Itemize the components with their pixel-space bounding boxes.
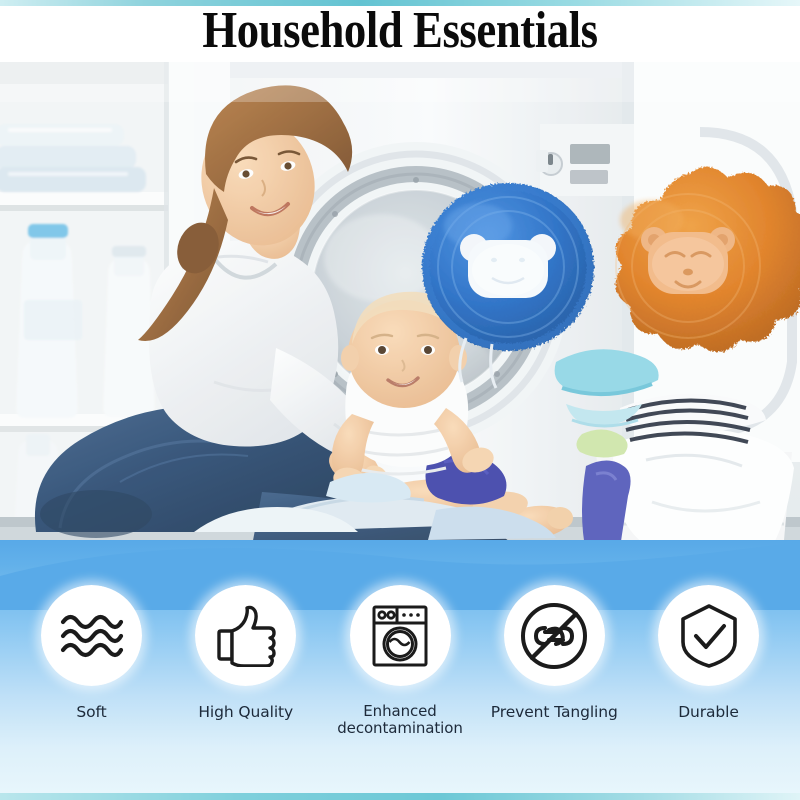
feature-label: Prevent Tangling [491, 703, 618, 721]
shield-check-icon [678, 602, 740, 670]
feature-label: Soft [76, 703, 106, 721]
feature-icon-circle [504, 585, 605, 686]
feature-prevent-tangling[interactable]: Prevent Tangling [483, 585, 626, 785]
feature-label: Durable [678, 703, 739, 721]
feature-icon-circle [658, 585, 759, 686]
page-title: Household Essentials [56, 2, 744, 60]
feature-enhanced-decontamination[interactable]: Enhanced decontamination [329, 585, 472, 785]
feature-icon-circle [41, 585, 142, 686]
title-band: Household Essentials [0, 0, 800, 62]
washing-machine-icon [371, 604, 429, 668]
bottom-accent-strip [0, 793, 800, 800]
waves-icon [59, 610, 125, 662]
no-tangle-icon [518, 600, 590, 672]
top-accent-strip [0, 0, 800, 6]
feature-label: High Quality [198, 703, 293, 721]
thumbs-up-icon [215, 605, 277, 667]
feature-label: Enhanced decontamination [337, 703, 462, 737]
feature-high-quality[interactable]: High Quality [174, 585, 317, 785]
feature-durable[interactable]: Durable [637, 585, 780, 785]
hero-photo [0, 62, 800, 572]
feature-list: Soft High Quality [0, 585, 800, 785]
feature-icon-circle [195, 585, 296, 686]
feature-soft[interactable]: Soft [20, 585, 163, 785]
poster-canvas: Household Essentials [0, 0, 800, 800]
feature-icon-circle [350, 585, 451, 686]
